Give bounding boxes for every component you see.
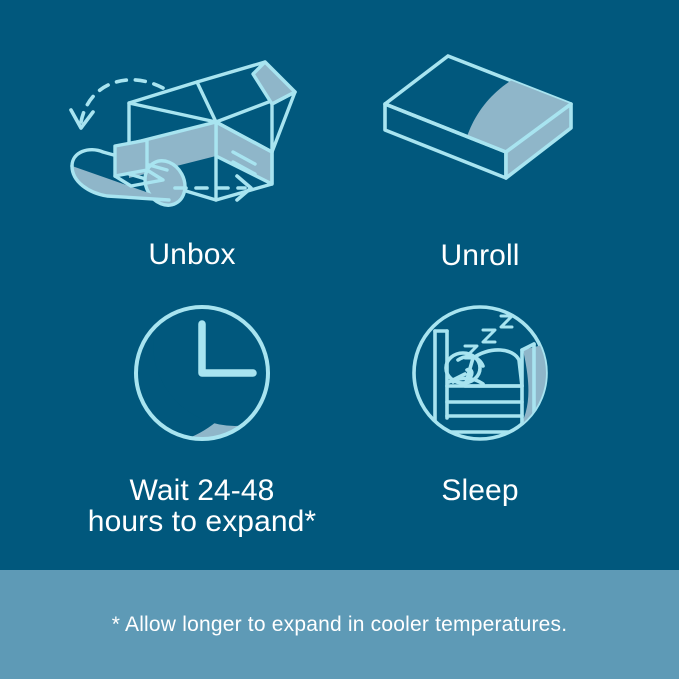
mattress-setup-infographic: Unbox <box>0 0 679 679</box>
footnote-text: * Allow longer to expand in cooler tempe… <box>112 613 568 637</box>
steps-grid: Unbox <box>0 0 679 570</box>
step-sleep-label: Sleep <box>441 475 518 506</box>
flat-mattress-icon <box>375 48 585 188</box>
step-unbox: Unbox <box>42 48 342 270</box>
step-unroll: Unroll <box>330 48 630 271</box>
step-unbox-label: Unbox <box>148 239 235 270</box>
step-wait: Wait 24-48 hours to expand* <box>52 298 352 537</box>
step-unroll-label: Unroll <box>441 240 520 271</box>
open-box-with-rolled-mattress-icon <box>67 48 317 213</box>
clock-icon <box>127 298 277 453</box>
footnote-band: * Allow longer to expand in cooler tempe… <box>0 570 679 679</box>
step-sleep: Sleep <box>330 298 630 506</box>
step-wait-label: Wait 24-48 hours to expand* <box>88 475 316 537</box>
person-sleeping-in-bed-icon <box>405 298 555 453</box>
